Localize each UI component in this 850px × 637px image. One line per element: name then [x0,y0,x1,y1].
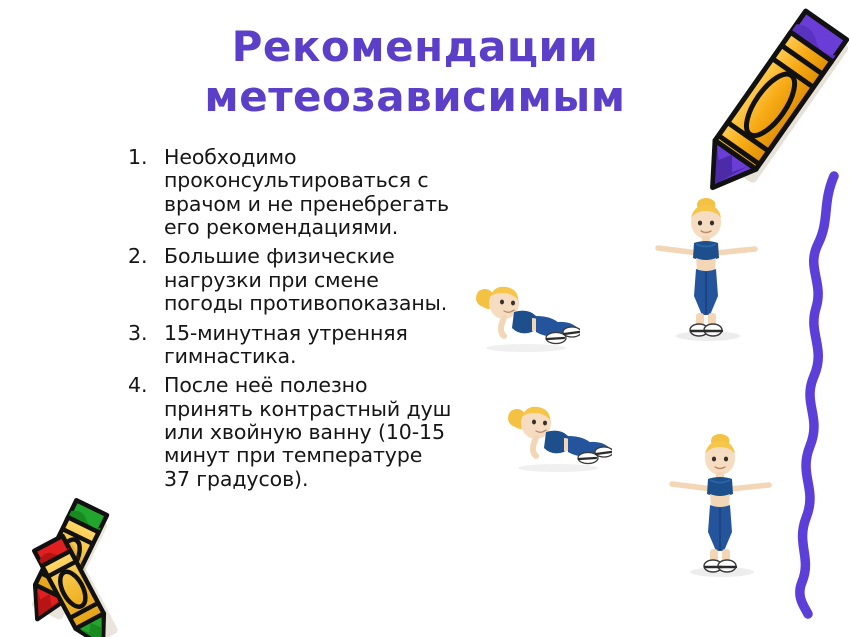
lying-exercise-figure-lower [502,396,612,474]
slide-canvas: Рекомендации метеозависимым 1. Необходим… [0,0,850,637]
list-item: 4. После неё полезно принять контрастный… [128,374,518,491]
slide-title-line-2: метеозависимым [150,72,680,122]
list-item-text: Большие физические нагрузки при смене по… [164,245,518,315]
list-item-number: 1. [128,146,158,169]
list-item: 1. Необходимо проконсультироваться с вра… [128,146,518,239]
lying-exercise-figure-upper [470,276,580,354]
list-item-number: 4. [128,374,158,397]
list-item: 2. Большие физические нагрузки при смене… [128,245,518,315]
standing-exercise-figure-upper [652,196,760,344]
list-item-text: 15-минутная утренняя гимнастика. [164,322,518,369]
list-item-text: После неё полезно принять контрастный ду… [164,374,518,491]
slide-title-line-1: Рекомендации [150,22,680,72]
list-item-number: 3. [128,322,158,345]
crossed-crayons-icon [0,488,194,637]
slide-title: Рекомендации метеозависимым [150,22,680,121]
crayon-icon [690,0,850,209]
list-item-text: Необходимо проконсультироваться с врачом… [164,146,518,239]
recommendations-list: 1. Необходимо проконсультироваться с вра… [128,146,518,497]
standing-exercise-figure-lower [666,432,774,580]
list-item: 3. 15-минутная утренняя гимнастика. [128,322,518,369]
list-item-number: 2. [128,245,158,268]
